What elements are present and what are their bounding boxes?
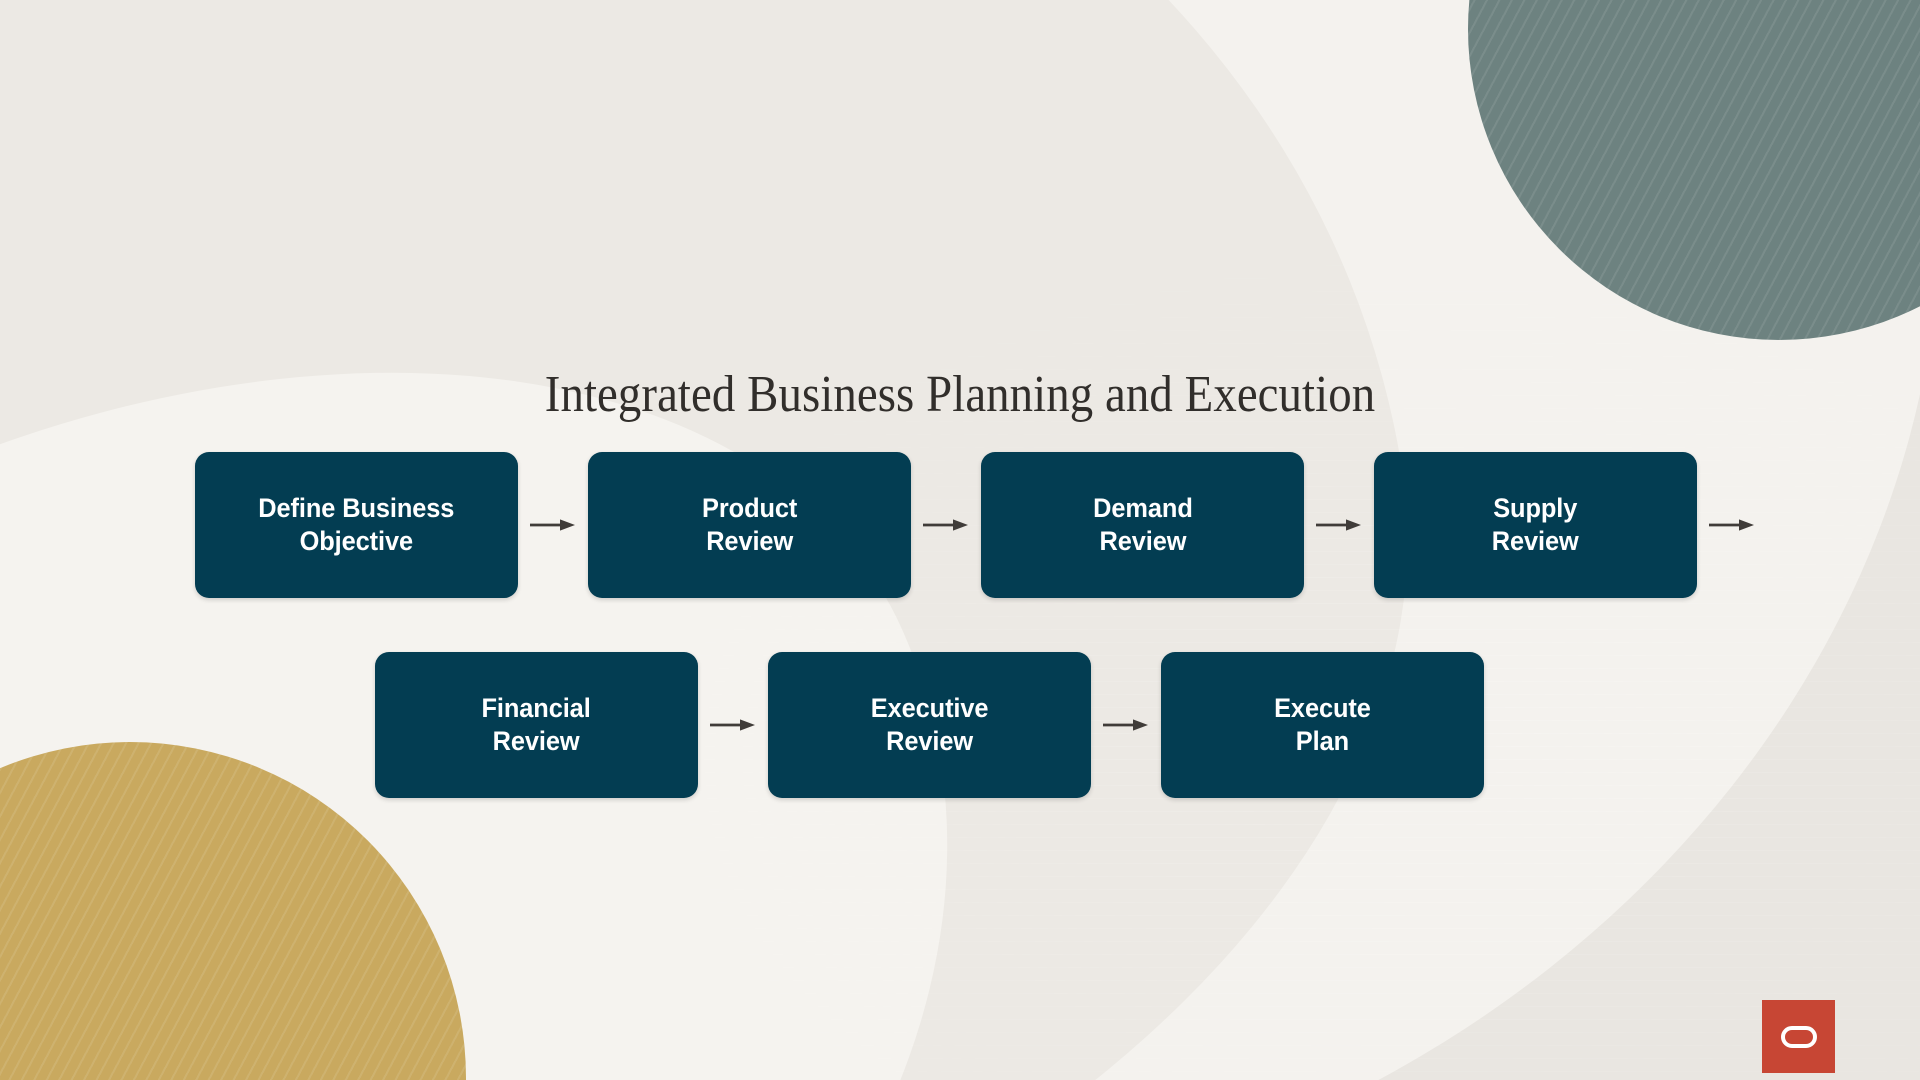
arrow-right-icon bbox=[698, 716, 768, 734]
flow-row-2: Financial Review Executive Review Execut… bbox=[375, 652, 1484, 798]
flow-step-label: Supply Review bbox=[1479, 492, 1592, 558]
flow-step-supply-review[interactable]: Supply Review bbox=[1374, 452, 1697, 598]
flow-step-label: Define Business Objective bbox=[245, 492, 467, 558]
arrow-right-icon bbox=[911, 516, 981, 534]
flow-step-label: Financial Review bbox=[469, 692, 604, 758]
arrow-right-icon bbox=[518, 516, 588, 534]
flow-step-product-review[interactable]: Product Review bbox=[588, 452, 911, 598]
arrow-right-icon bbox=[1304, 516, 1374, 534]
flow-step-label: Executive Review bbox=[858, 692, 1002, 758]
slide-canvas: Integrated Business Planning and Executi… bbox=[0, 0, 1920, 1080]
arrow-right-icon bbox=[1091, 716, 1161, 734]
oracle-logo bbox=[1762, 1000, 1835, 1073]
flow-step-label: Execute Plan bbox=[1261, 692, 1384, 758]
flow-step-label: Product Review bbox=[689, 492, 811, 558]
flow-step-executive-review[interactable]: Executive Review bbox=[768, 652, 1091, 798]
oracle-o-icon bbox=[1781, 1026, 1817, 1048]
flow-step-financial-review[interactable]: Financial Review bbox=[375, 652, 698, 798]
flow-step-execute-plan[interactable]: Execute Plan bbox=[1161, 652, 1484, 798]
arrow-right-wrap-icon bbox=[1697, 516, 1767, 534]
flow-step-label: Demand Review bbox=[1080, 492, 1206, 558]
flow-row-1: Define Business Objective Product Review… bbox=[195, 452, 1767, 598]
flow-step-demand-review[interactable]: Demand Review bbox=[981, 452, 1304, 598]
process-flow-diagram: Define Business Objective Product Review… bbox=[0, 0, 1920, 1080]
flow-step-define-business-objective[interactable]: Define Business Objective bbox=[195, 452, 518, 598]
